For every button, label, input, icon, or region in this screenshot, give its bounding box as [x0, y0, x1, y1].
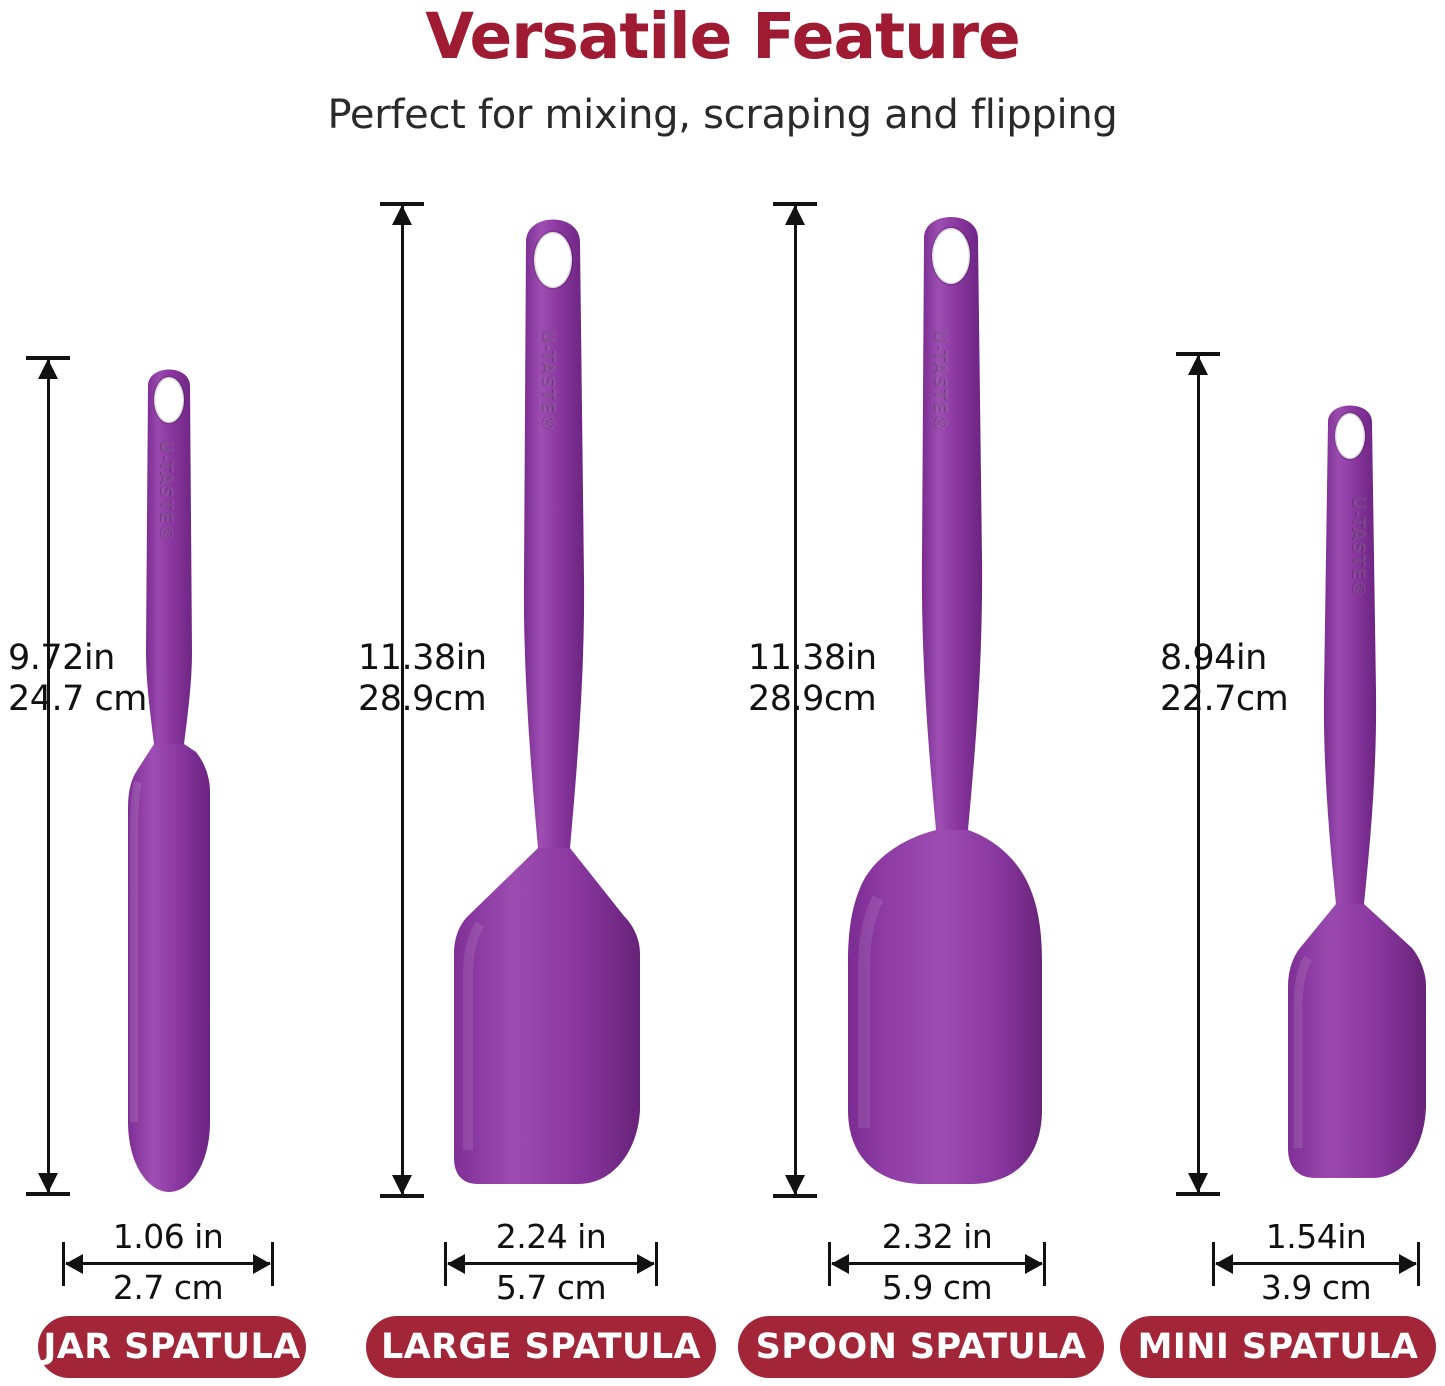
dimension-bar: [832, 1262, 1042, 1265]
product-column-jar-spatula: 9.72in 24.7 cm: [0, 0, 340, 1386]
pill-label: SPOON SPATULA: [756, 1327, 1087, 1367]
width-inches: 1.06 in: [62, 1217, 274, 1256]
width-centimeters: 5.9 cm: [828, 1268, 1046, 1307]
width-dimension-large-spatula: 2.24 in 5.7 cm: [444, 1228, 658, 1298]
dimension-bar: [1216, 1262, 1416, 1265]
dimension-bar: [66, 1262, 270, 1265]
width-inches: 2.24 in: [444, 1217, 658, 1256]
large-spatula-illustration: [428, 198, 668, 1200]
pill-label: MINI SPATULA: [1138, 1327, 1419, 1367]
pill-label: LARGE SPATULA: [381, 1327, 701, 1367]
width-dimension-jar-spatula: 1.06 in 2.7 cm: [62, 1228, 274, 1298]
pill-label: JAR SPATULA: [43, 1327, 300, 1367]
arrowhead-down-icon: [1188, 1173, 1208, 1193]
width-dimension-spoon-spatula: 2.32 in 5.9 cm: [828, 1228, 1046, 1298]
product-column-large-spatula: 11.38in 28.9cm: [340, 0, 720, 1386]
product-pill-jar-spatula[interactable]: JAR SPATULA: [38, 1316, 306, 1378]
width-centimeters: 2.7 cm: [62, 1268, 274, 1307]
dimension-cap-bottom: [773, 1194, 817, 1198]
dimension-shaft: [1197, 352, 1200, 1196]
jar-spatula-illustration: [108, 352, 230, 1202]
dimension-cap-bottom: [26, 1192, 70, 1196]
product-pill-spoon-spatula[interactable]: SPOON SPATULA: [738, 1316, 1104, 1378]
product-column-mini-spatula: 8.94in 22.7cm: [1100, 0, 1445, 1386]
product-pill-large-spatula[interactable]: LARGE SPATULA: [366, 1316, 716, 1378]
width-inches: 2.32 in: [828, 1217, 1046, 1256]
dimension-cap-bottom: [1176, 1192, 1220, 1196]
product-pill-mini-spatula[interactable]: MINI SPATULA: [1120, 1316, 1436, 1378]
arrowhead-down-icon: [392, 1175, 412, 1195]
width-dimension-mini-spatula: 1.54in 3.9 cm: [1212, 1228, 1420, 1298]
width-inches: 1.54in: [1212, 1217, 1420, 1256]
width-centimeters: 3.9 cm: [1212, 1268, 1420, 1307]
arrowhead-up-icon: [38, 359, 58, 379]
spoon-spatula-illustration: [820, 198, 1070, 1200]
dimension-bar: [448, 1262, 654, 1265]
width-centimeters: 5.7 cm: [444, 1268, 658, 1307]
dimension-shaft: [47, 356, 50, 1196]
mini-spatula-illustration: [1268, 392, 1445, 1204]
arrowhead-up-icon: [785, 205, 805, 225]
arrowhead-down-icon: [785, 1175, 805, 1195]
arrowhead-up-icon: [392, 205, 412, 225]
dimension-cap-bottom: [380, 1194, 424, 1198]
arrowhead-up-icon: [1188, 355, 1208, 375]
arrowhead-down-icon: [38, 1173, 58, 1193]
product-column-spoon-spatula: 11.38in 28.9cm: [720, 0, 1100, 1386]
infographic-canvas: Versatile Feature Perfect for mixing, sc…: [0, 0, 1445, 1386]
